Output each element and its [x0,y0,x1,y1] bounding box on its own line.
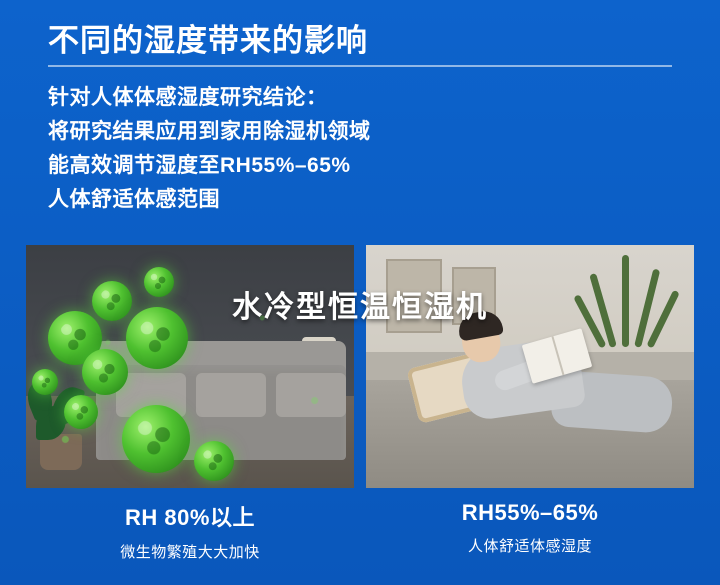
poster-page: 不同的湿度带来的影响 针对人体体感湿度研究结论： 将研究结果应用到家用除湿机领域… [0,0,720,585]
photo-row [26,245,694,488]
microbe-sphere [194,441,234,481]
lead-line-1: 针对人体体感湿度研究结论： [48,81,672,115]
microbe-sphere [64,395,98,429]
caption-right-subtitle: 人体舒适体感湿度 [366,535,694,556]
lead-line-4: 人体舒适体感范围 [48,183,672,217]
microbe-sphere [144,267,174,297]
potted-plant [598,251,654,347]
lead-line-2: 将研究结果应用到家用除湿机领域 [48,115,672,149]
microbe-sphere [82,349,128,395]
microbe-sphere [92,281,132,321]
lead-paragraph: 针对人体体感湿度研究结论： 将研究结果应用到家用除湿机领域 能高效调节湿度至RH… [48,81,672,217]
caption-left-subtitle: 微生物繁殖大大加快 [26,541,354,562]
caption-right-title: RH55%–65% [366,500,694,526]
microbe-sphere [122,405,190,473]
caption-right: RH55%–65% 人体舒适体感湿度 [366,500,694,562]
caption-left: RH 80%以上 微生物繁殖大大加快 [26,500,354,562]
microbe-sphere [32,369,58,395]
person-reading-photo [366,245,694,488]
caption-left-title: RH 80%以上 [26,500,354,532]
living-room-microbe-photo [26,245,354,488]
page-title: 不同的湿度带来的影响 [48,22,672,59]
wall-picture-frame [386,259,442,333]
title-divider [48,65,672,67]
lead-line-3: 能高效调节湿度至RH55%–65% [48,149,672,183]
microbe-dots-overlay [26,245,354,488]
caption-row: RH 80%以上 微生物繁殖大大加快 RH55%–65% 人体舒适体感湿度 [26,500,694,562]
microbe-sphere [126,307,188,369]
